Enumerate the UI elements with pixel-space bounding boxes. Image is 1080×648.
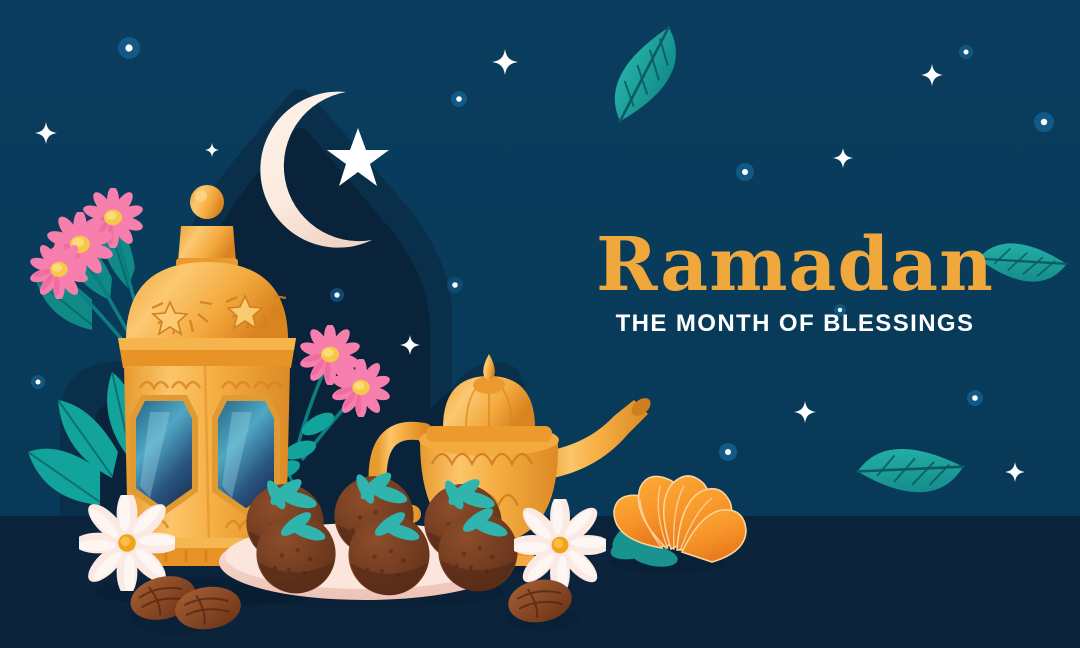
lotus-flower bbox=[509, 494, 610, 595]
lantern-finial bbox=[190, 185, 224, 219]
lantern-neck bbox=[178, 226, 236, 262]
ramadan-banner: Ramadan THE MONTH OF BLESSINGS bbox=[0, 0, 1080, 648]
ramadan-illustration bbox=[0, 0, 1080, 648]
